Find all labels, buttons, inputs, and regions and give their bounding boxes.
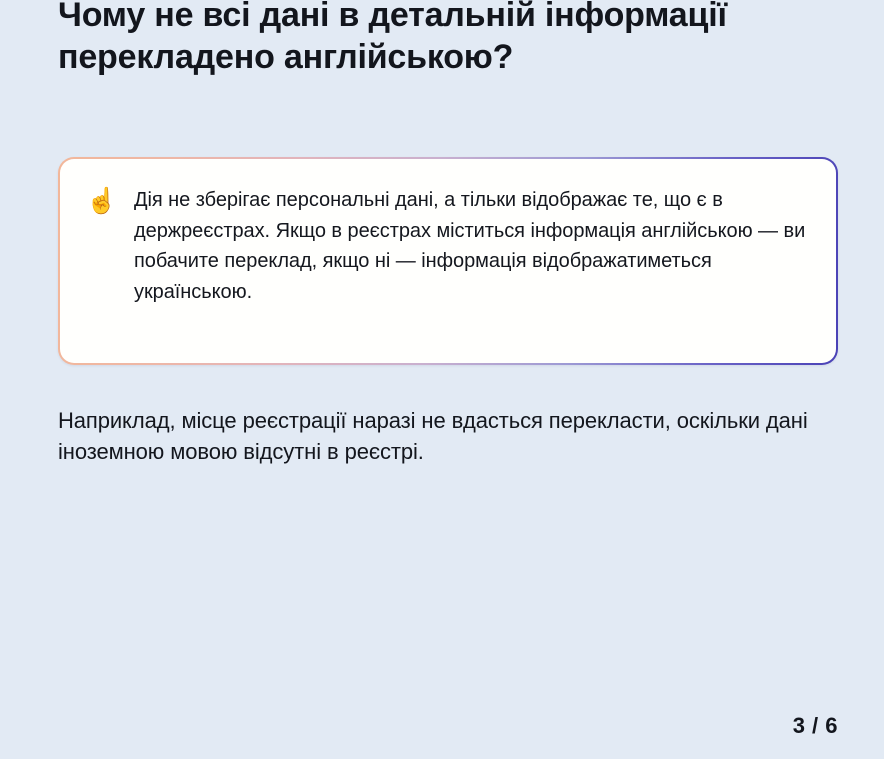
page-title: Чому не всі дані в детальній інформації … xyxy=(58,0,758,78)
index-pointing-up-icon: ☝️ xyxy=(86,186,120,216)
body-paragraph: Наприклад, місце реєстрації наразі не вд… xyxy=(58,405,813,467)
info-callout-body: ☝️ Дія не зберігає персональні дані, а т… xyxy=(60,159,836,363)
info-callout-text: Дія не зберігає персональні дані, а тіль… xyxy=(120,185,808,307)
onboarding-screen: Чому не всі дані в детальній інформації … xyxy=(0,0,884,759)
page-counter: 3 / 6 xyxy=(793,713,838,739)
info-callout-card: ☝️ Дія не зберігає персональні дані, а т… xyxy=(58,157,838,365)
